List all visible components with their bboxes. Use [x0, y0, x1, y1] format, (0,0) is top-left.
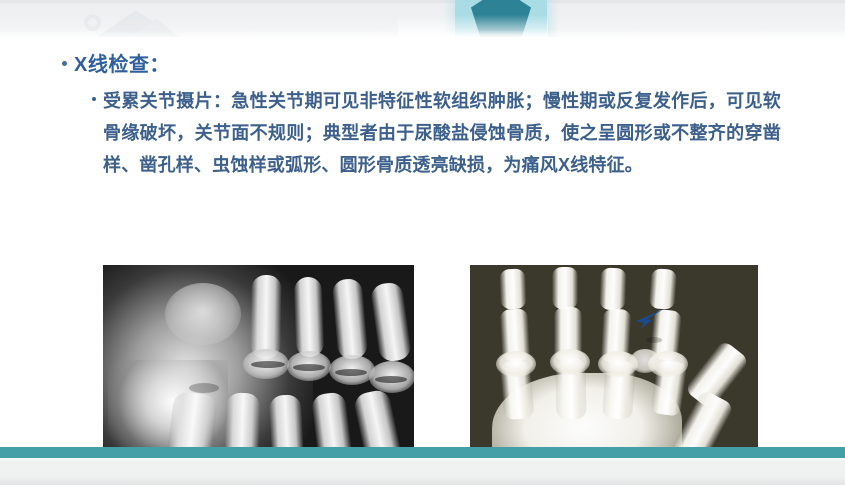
- bottom-panel-highlight: [0, 458, 845, 460]
- finger-distal-4: [599, 268, 626, 311]
- sesamoid-bone: [630, 349, 660, 373]
- phalanx-3: [294, 277, 325, 358]
- knuckle-3: [550, 349, 590, 375]
- title-bullet-icon: [62, 61, 67, 66]
- erosion-lesion-4: [375, 376, 407, 383]
- title-label: X线检查：: [74, 48, 170, 77]
- body-label: 受累关节摄片：急性关节期可见非特征性软组织肿胀；慢性期或反复发作后，可见软骨缘破…: [103, 85, 781, 181]
- bottom-accent-bar: [0, 447, 845, 458]
- page-title: X线检查：: [62, 48, 170, 77]
- erosion-lesion-3: [335, 369, 367, 376]
- joint-head-1: [165, 283, 241, 345]
- finger-distal-2: [499, 269, 526, 310]
- knuckle-2: [496, 351, 536, 377]
- slide: X线检查： 受累关节摄片：急性关节期可见非特征性软组织肿胀；慢性期或反复发作后，…: [0, 0, 845, 485]
- erosion-lesion-2: [293, 364, 325, 371]
- phalanx-2: [250, 275, 281, 360]
- bottom-panel: [0, 458, 845, 485]
- body-bullet-icon: [92, 97, 96, 101]
- body-paragraph: 受累关节摄片：急性关节期可见非特征性软组织肿胀；慢性期或反复发作后，可见软骨缘破…: [92, 85, 792, 181]
- finger-distal-3: [552, 267, 578, 309]
- phalanx-4: [332, 278, 369, 360]
- erosion-lesion-1: [251, 361, 285, 368]
- phalanx-5: [370, 281, 413, 363]
- slide-content: X线检查： 受累关节摄片：急性关节期可见非特征性软组织肿胀；慢性期或反复发作后，…: [0, 37, 845, 447]
- finger-distal-5: [649, 268, 678, 310]
- hand-erosion-lesion: [646, 337, 662, 343]
- watermark-circle-inner: [88, 18, 97, 27]
- annotation-arrow-icon: [630, 307, 666, 333]
- erosion-lesion-5: [189, 383, 219, 393]
